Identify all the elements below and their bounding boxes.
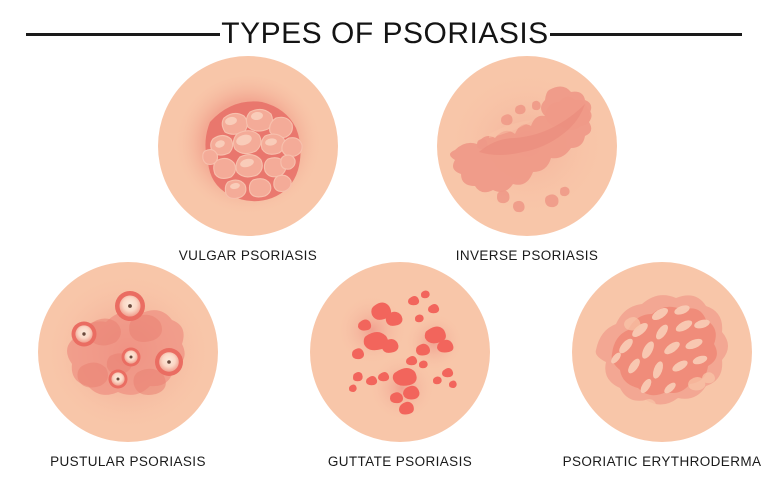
- guttate-psoriasis-illustration: [310, 262, 490, 442]
- card-guttate-psoriasis: GUTTATE PSORIASIS: [310, 262, 490, 469]
- page-title: TYPES OF PSORIASIS: [220, 19, 549, 49]
- title-rule-left: [26, 33, 220, 36]
- card-inverse-psoriasis: INVERSE PSORIASIS: [437, 56, 617, 263]
- card-label-inverse: INVERSE PSORIASIS: [417, 248, 637, 263]
- title-rule-right: [550, 33, 742, 36]
- card-psoriatic-erythroderma: PSORIATIC ERYTHRODERMA: [572, 262, 752, 469]
- card-label-erythroderma: PSORIATIC ERYTHRODERMA: [522, 454, 768, 469]
- card-pustular-psoriasis: PUSTULAR PSORIASIS: [38, 262, 218, 469]
- pustular-psoriasis-illustration: [38, 262, 218, 442]
- vulgar-psoriasis-illustration: [158, 56, 338, 236]
- page-header: TYPES OF PSORIASIS: [0, 14, 768, 54]
- card-vulgar-psoriasis: VULGAR PSORIASIS: [158, 56, 338, 263]
- card-label-guttate: GUTTATE PSORIASIS: [280, 454, 520, 469]
- card-label-vulgar: VULGAR PSORIASIS: [138, 248, 358, 263]
- psoriatic-erythroderma-illustration: [572, 262, 752, 442]
- inverse-psoriasis-illustration: [437, 56, 617, 236]
- card-label-pustular: PUSTULAR PSORIASIS: [0, 454, 258, 469]
